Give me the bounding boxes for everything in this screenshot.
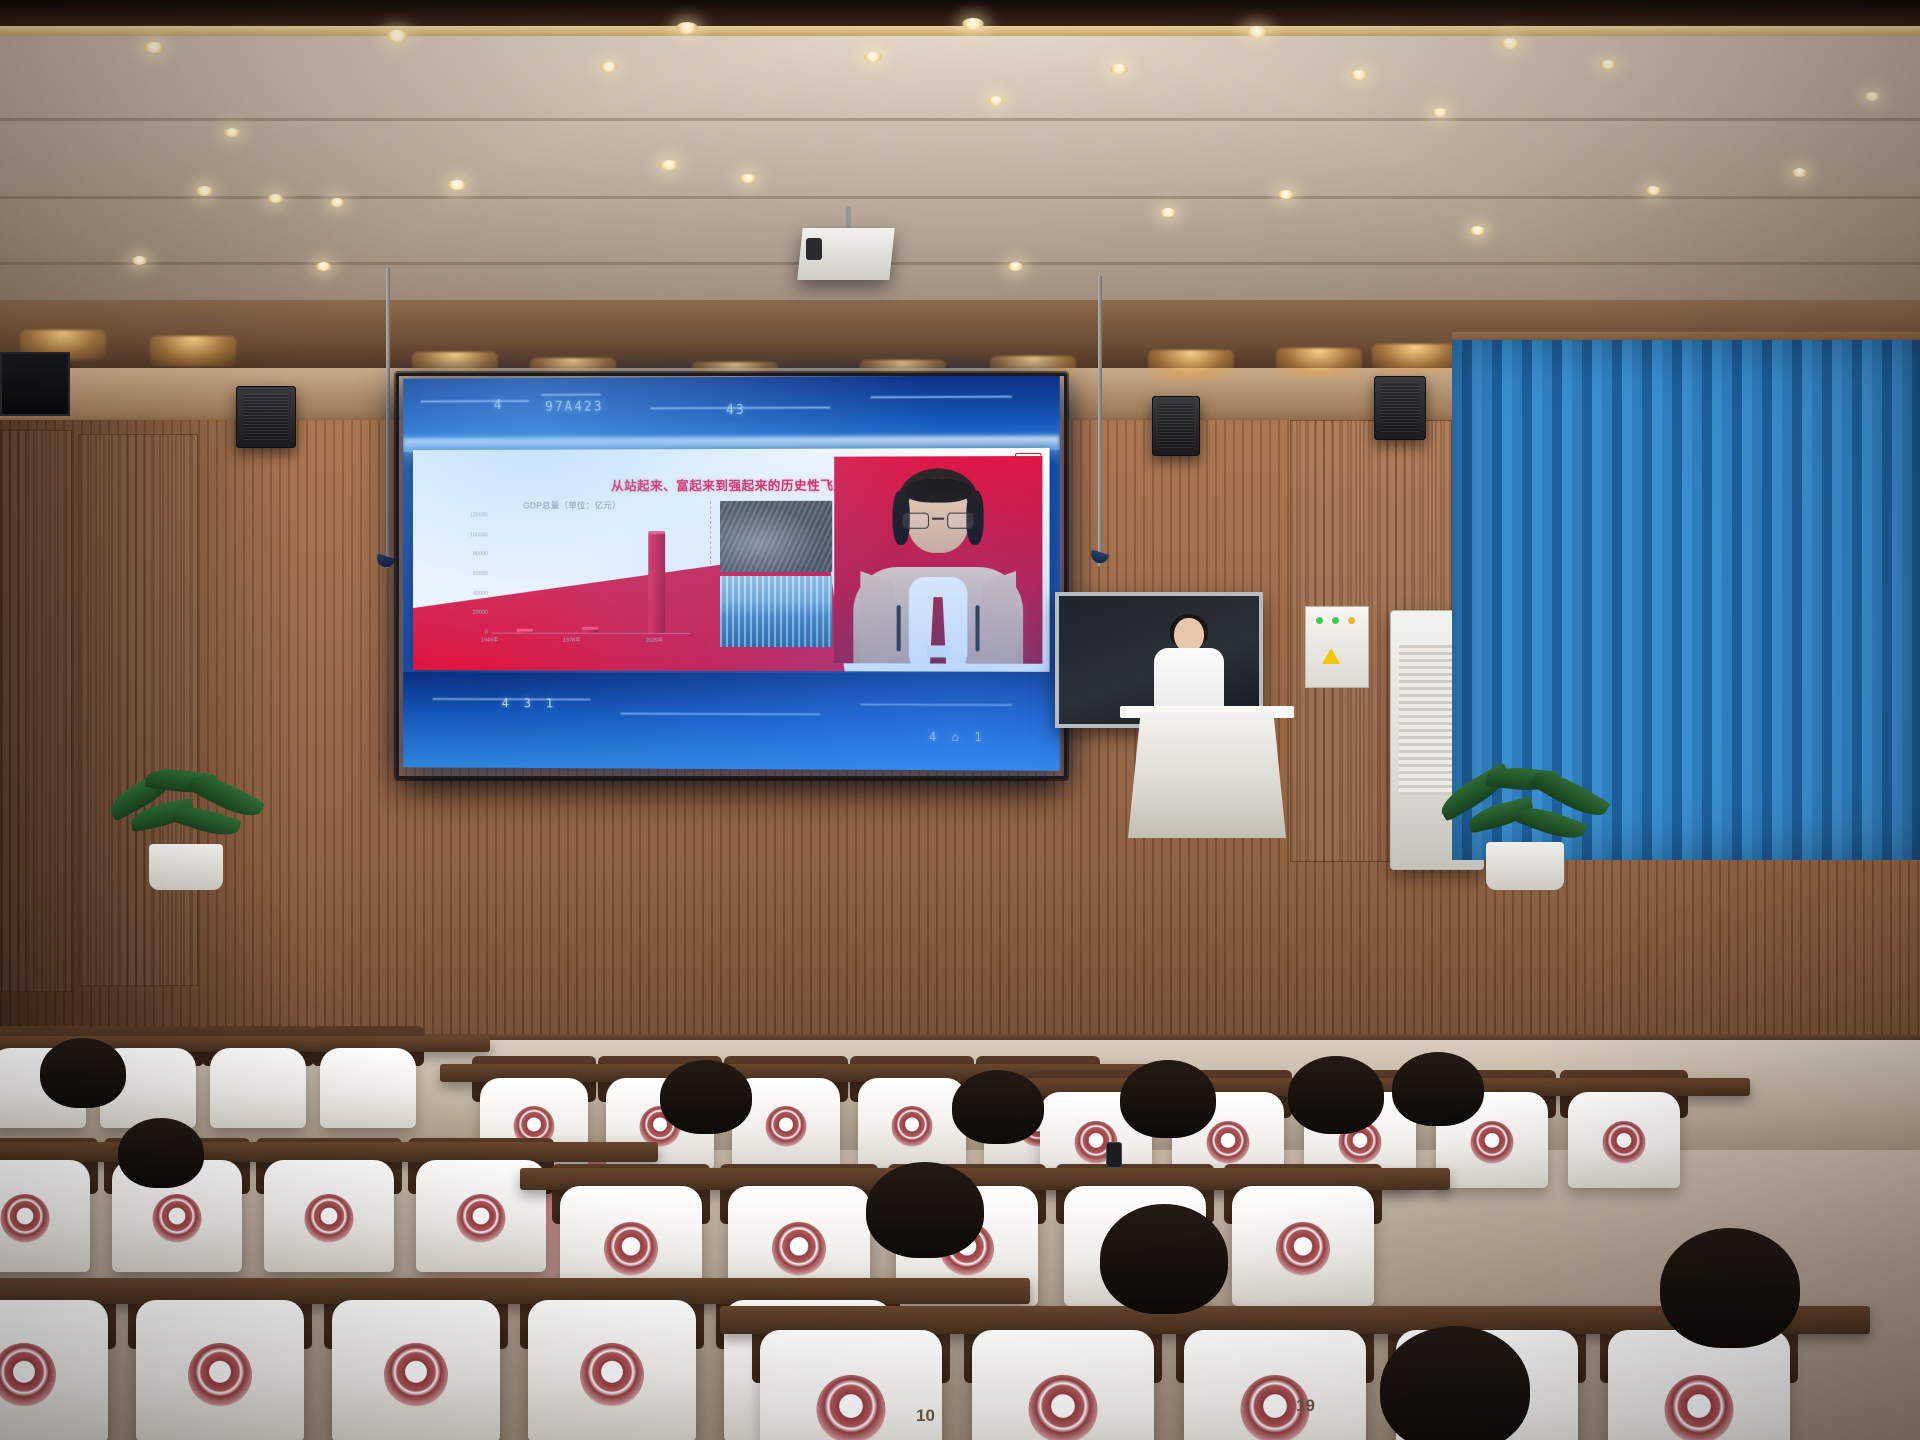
seat-number-label: 19 [1296,1396,1315,1416]
school-crest-emblem [188,1343,252,1407]
potted-plant [96,770,276,890]
ceiling-light [740,174,756,183]
chair-with-cover [0,1300,108,1440]
chart-bars [492,515,690,633]
historic-aerial-photo [720,501,832,572]
chair-with-cover [972,1330,1154,1440]
screen-ticker-center: 97A423 [545,400,603,415]
hanging-rod [386,268,390,568]
school-crest-emblem [1603,1121,1646,1164]
lecture-hall-photo: 4 97A423 43 中国共产党成立百年 人民网 奋斗百年路 从站起来、富起来… [0,0,1920,1440]
chart-bar [582,629,599,633]
ceiling-light [660,160,678,170]
y-axis-tick: 80000 [473,551,488,557]
y-axis-tick: 100000 [470,532,488,538]
audience-member [40,1038,126,1108]
chair-with-cover [332,1300,500,1440]
led-display-screen[interactable]: 4 97A423 43 中国共产党成立百年 人民网 奋斗百年路 从站起来、富起来… [403,375,1060,771]
school-crest-emblem [1276,1222,1330,1276]
chart-plot-area: 120000 100000 80000 60000 40000 20000 0 [492,515,690,634]
audience-member [1120,1060,1216,1138]
chart-bar [648,533,665,633]
status-led-amber [1348,617,1355,624]
chart-title: GDP总量（单位：亿元） [448,499,696,511]
ceiling-light [676,22,698,34]
ceiling-speaker [1374,376,1426,440]
ceiling-light [224,128,240,137]
school-crest-emblem [1029,1375,1098,1440]
audience-member [1660,1228,1800,1348]
ceiling-light [1500,38,1520,49]
chair-with-cover [760,1330,942,1440]
ceiling-light [316,262,331,271]
ceiling-light [1646,186,1661,195]
ceiling-gold-trim [0,26,1920,36]
chair-with-cover [264,1160,394,1272]
audience-member [952,1070,1044,1144]
x-axis-tick: 1949年 [473,636,507,644]
ceiling-light [448,180,466,190]
school-crest-emblem [0,1343,56,1407]
chair-with-cover [0,1160,90,1272]
screen-bottom-band: 4 3 1 4 ⌂ 1 [403,672,1060,771]
wall-wash-light [1148,350,1234,380]
ceiling-light [1350,70,1368,80]
screen-bottom-glyph-right: 4 ⌂ 1 [929,730,986,744]
ceiling-light [268,194,283,203]
chair-with-cover [1568,1092,1680,1188]
presenter-fringe [905,478,972,502]
school-crest-emblem [772,1222,826,1276]
chair-with-cover [210,1048,306,1128]
smartphone [1106,1142,1122,1168]
desk [0,1142,658,1162]
slide-photo-column [710,501,832,649]
school-crest-emblem [457,1194,506,1243]
y-axis-tick: 0 [485,630,488,636]
audience-member [866,1162,984,1258]
wall-wash-light [1276,348,1362,378]
ceiling-light [1470,226,1485,235]
potted-plant [1430,770,1620,890]
school-crest-emblem [305,1194,354,1243]
chair-with-cover [320,1048,416,1128]
modern-city-photo [720,576,832,647]
school-crest-emblem [1471,1121,1514,1164]
ceiling-light [1792,168,1807,177]
school-crest-emblem [766,1106,807,1147]
school-crest-emblem [1207,1121,1250,1164]
audience-member [1288,1056,1384,1134]
wall-wash-light [150,336,236,366]
wall-panel [0,430,72,992]
screen-ticker-right: 43 [726,403,746,418]
ceiling-light [600,62,618,72]
wall-monitor [0,352,70,416]
ceiling-light [144,42,164,53]
school-crest-emblem [1,1194,50,1243]
chair-with-cover [1232,1186,1374,1306]
presenter-glasses-right [947,513,973,529]
ceiling-light [1600,60,1616,69]
y-axis-tick: 120000 [470,512,488,518]
wall-control-panel[interactable] [1305,606,1369,688]
wall-wash-light [1372,344,1458,374]
chair-with-cover [528,1300,696,1440]
school-crest-emblem [580,1343,644,1407]
seat-number-label: 10 [916,1406,935,1426]
ceiling-light [132,256,147,265]
audience-member [1380,1326,1530,1440]
audience-member [118,1118,204,1188]
ceiling-speaker [236,386,296,448]
ceiling-light [962,18,984,30]
presenter-video-panel [834,456,1042,664]
chair-with-cover [858,1078,966,1170]
hanging-rod [1098,276,1102,566]
presenter-badge [927,645,949,657]
school-crest-emblem [1665,1375,1734,1440]
x-axis-tick: 1978年 [555,636,589,644]
school-crest-emblem [817,1375,886,1440]
ceiling-light [1432,108,1448,117]
chair-with-cover [1184,1330,1366,1440]
ceiling-light [1246,26,1268,38]
presenter-glasses-left [903,513,929,529]
speaker-podium [1128,712,1286,838]
ceiling-light [386,30,408,42]
ceiling-light [1008,262,1023,271]
status-led-green [1316,617,1323,624]
ceiling-light [1160,208,1176,217]
ceiling-light [330,198,344,207]
microphone [897,605,901,651]
ceiling-speaker [1152,396,1200,456]
x-axis-labels: 1949年1978年2020年 [448,636,696,644]
chart-bar [516,631,533,633]
school-crest-emblem [604,1222,658,1276]
school-crest-emblem [892,1106,933,1147]
x-axis-tick: 2020年 [638,636,672,644]
school-crest-emblem [384,1343,448,1407]
audience-member [1100,1204,1228,1314]
ceiling-top-band [0,0,1920,26]
gdp-bar-chart: GDP总量（单位：亿元） 120000 100000 80000 60000 4… [448,499,696,649]
ceiling-light [196,186,213,196]
ceiling-light [864,52,882,62]
status-led-green-2 [1332,617,1339,624]
audience-member [1392,1052,1484,1126]
y-axis-tick: 20000 [473,610,488,616]
ceiling-light [988,96,1004,105]
audience-member [660,1060,752,1134]
y-axis-tick: 40000 [473,591,488,597]
school-crest-emblem [153,1194,202,1243]
y-axis-tick: 60000 [473,571,488,577]
projector-lens [806,238,822,260]
screen-ticker-left: 4 [494,398,504,413]
presentation-slide: 中国共产党成立百年 人民网 奋斗百年路 从站起来、富起来到强起来的历史性飞跃 G… [413,448,1050,672]
wall-panel [78,434,198,986]
ceiling-light [1864,92,1880,101]
chair-with-cover [136,1300,304,1440]
ceiling-light [1110,64,1128,74]
screen-bottom-glyph-left: 4 3 1 [502,696,557,710]
assistant-head [1174,618,1204,652]
chair-with-cover [1608,1330,1790,1440]
presenter-glasses-bridge [932,518,944,520]
ceiling-light [1278,190,1294,199]
microphone [975,605,979,651]
